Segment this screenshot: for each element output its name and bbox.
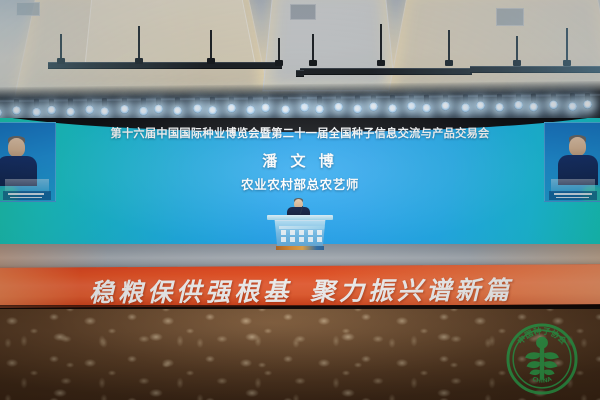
truss-spotlight: [476, 101, 485, 110]
truss-spotlight: [461, 103, 470, 112]
speaker-name: 潘 文 博: [0, 150, 600, 171]
truss-spotlight-housing: [209, 97, 214, 105]
left-panel-speaker-head: [8, 138, 25, 157]
truss-spotlight-housing: [355, 95, 360, 103]
banner-slogan-left: 稳粮保供强根基: [89, 277, 292, 307]
truss-spotlight: [47, 106, 56, 115]
truss-spotlight: [549, 100, 558, 109]
truss-spotlight: [407, 102, 416, 111]
truss-spotlight: [334, 103, 343, 112]
truss-spotlight-housing: [248, 96, 253, 104]
truss-spotlight-housing: [33, 99, 38, 107]
truss-spotlight: [139, 106, 148, 115]
speaker-role: 农业农村部总农艺师: [0, 174, 600, 193]
truss-spotlight: [246, 105, 255, 114]
truss-spotlight: [66, 107, 75, 116]
truss-spotlight: [173, 106, 182, 115]
truss-spotlight: [85, 105, 94, 114]
truss-spotlight-housing: [68, 98, 73, 106]
truss-spotlight: [315, 104, 324, 113]
left-led-panel: [0, 122, 56, 202]
truss-spotlight: [568, 102, 577, 111]
agriculture-seal-logo: 中国种子协会 CHINA: [505, 322, 579, 396]
podium-logo-text: [281, 230, 323, 243]
truss-spotlight: [227, 104, 236, 113]
right-panel-speaker-head: [569, 137, 586, 156]
right-led-panel: [544, 122, 600, 202]
truss-spotlight-housing: [390, 95, 395, 103]
truss-spotlight: [300, 103, 309, 112]
truss-spotlight: [120, 105, 129, 114]
truss-spotlight-housing: [317, 96, 322, 104]
stage-front-banner: 稳粮保供强根基聚力振兴谱新篇: [0, 264, 600, 308]
truss-spotlight: [281, 105, 290, 114]
banner-slogan-right: 聚力振兴谱新篇: [310, 276, 513, 306]
podium-top-surface: [267, 215, 333, 220]
truss-spotlight: [261, 103, 270, 112]
truss-spotlight: [583, 100, 592, 109]
truss-spotlight: [422, 103, 431, 112]
banner-slogan: 稳粮保供强根基聚力振兴谱新篇: [0, 270, 600, 308]
truss-spotlight-housing: [141, 98, 146, 106]
truss-spotlight: [353, 104, 362, 113]
truss-spotlight: [529, 102, 538, 111]
podium-header-band: [279, 226, 325, 229]
truss-spotlight-housing: [282, 96, 287, 104]
truss-spotlight: [368, 102, 377, 111]
truss-spotlight-housing: [424, 95, 429, 103]
truss-spotlight: [514, 101, 523, 110]
podium-base: [276, 246, 324, 250]
truss-spotlight-housing: [175, 97, 180, 105]
event-title: 第十六届中国国际种业博览会暨第二十一届全国种子信息交流与产品交易会: [0, 128, 600, 140]
truss-spotlight-housing: [102, 98, 107, 106]
truss-spotlight: [154, 104, 163, 113]
truss-spotlight-housing: [497, 94, 502, 102]
truss-spotlight: [12, 106, 21, 115]
truss-spotlight: [208, 105, 217, 114]
truss-spotlight: [0, 108, 2, 117]
truss-spotlight: [192, 104, 201, 113]
podium-front-panel: [273, 220, 327, 248]
truss-spotlight-housing: [463, 94, 468, 102]
truss-spotlight: [100, 106, 109, 115]
truss-spotlight-housing: [531, 94, 536, 102]
truss-spotlight: [32, 107, 41, 116]
truss-spotlight-housing: [570, 93, 575, 101]
truss-spotlight: [441, 101, 450, 110]
conference-stage-photo: 第十六届中国国际种业博览会暨第二十一届全国种子信息交流与产品交易会 潘 文 博 …: [0, 0, 600, 400]
left-panel-caption: [3, 191, 51, 200]
truss-spotlight: [495, 102, 504, 111]
right-panel-caption: [549, 191, 597, 200]
speaker-podium: [271, 215, 329, 251]
truss-spotlight: [388, 103, 397, 112]
